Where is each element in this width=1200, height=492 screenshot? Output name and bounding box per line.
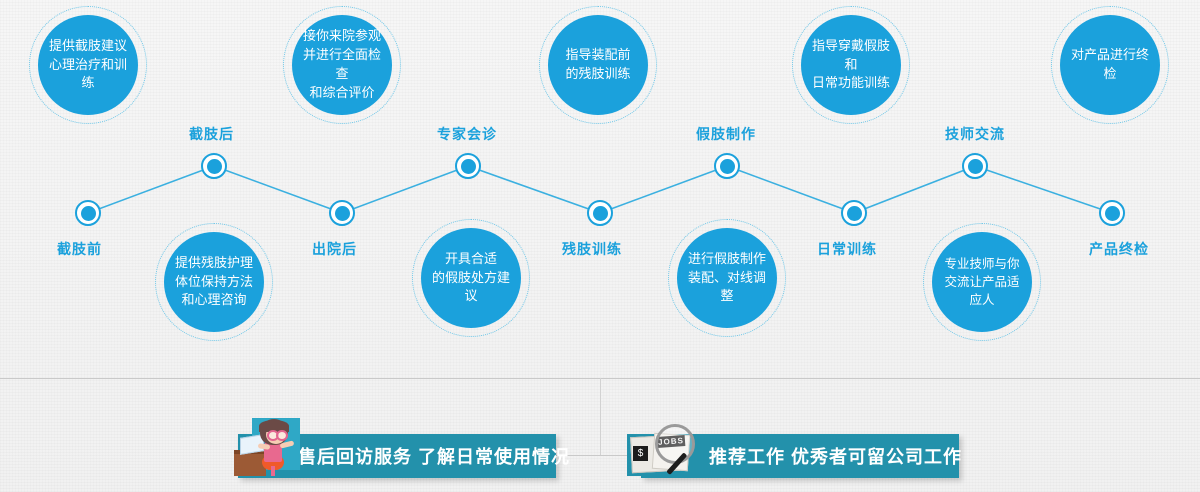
node-chanpinzhongjian[interactable]	[1099, 200, 1125, 226]
bubble-line: 体位保持方法	[175, 274, 253, 289]
magnifier-jobs-newspaper-illustration: JOBS $	[627, 420, 709, 482]
node-jiezhihou[interactable]	[201, 153, 227, 179]
node-label-jiazhizhizuo: 假肢制作	[696, 124, 756, 144]
node-label-zhuanjiahuizhen: 专家会诊	[437, 124, 497, 144]
bubble-bottom-4[interactable]: 专业技师与你 交流让产品适应人	[932, 232, 1032, 332]
bubble-top-3[interactable]: 指导装配前 的残肢训练	[548, 15, 648, 115]
bubble-line: 日常功能训练	[812, 75, 890, 90]
node-label-jiezhihou: 截肢后	[189, 124, 234, 144]
node-label-jishijiaoliu: 技师交流	[945, 124, 1005, 144]
node-label-canzhixunlian: 残肢训练	[562, 239, 622, 259]
node-jishijiaoliu[interactable]	[962, 153, 988, 179]
bubble-line: 提供截肢建议	[49, 38, 127, 53]
banner-after-sales-text: 售后回访服务 了解日常使用情况	[298, 443, 570, 469]
banner-connector-vertical	[600, 378, 601, 456]
node-canzhixunlian[interactable]	[587, 200, 613, 226]
bubble-bottom-2[interactable]: 开具合适 的假肢处方建议	[421, 228, 521, 328]
bubble-top-5[interactable]: 对产品进行终检	[1060, 15, 1160, 115]
bubble-line: 和综合评价	[309, 85, 374, 100]
bubble-line: 指导装配前	[565, 47, 630, 62]
bubble-bottom-1[interactable]: 提供残肢护理 体位保持方法 和心理咨询	[164, 232, 264, 332]
node-zhuanjiahuizhen[interactable]	[455, 153, 481, 179]
banner-job-recommendation-text: 推荐工作 优秀者可留公司工作	[709, 443, 962, 469]
bubble-line: 专业技师与你	[944, 257, 1019, 271]
node-chuyuanhou[interactable]	[329, 200, 355, 226]
bubble-line: 提供残肢护理	[175, 255, 253, 270]
node-jiazhizhizuo[interactable]	[714, 153, 740, 179]
bubble-line: 和心理咨询	[181, 292, 246, 307]
bubble-bottom-3[interactable]: 进行假肢制作 装配、对线调整	[677, 228, 777, 328]
bubble-line: 并进行全面检查	[303, 47, 381, 81]
bubble-top-4[interactable]: 指导穿戴假肢和 日常功能训练	[801, 15, 901, 115]
bubble-line: 心理治疗和训练	[49, 57, 127, 91]
bubble-line: 的假肢处方建议	[432, 270, 510, 304]
bubble-line: 装配、对线调整	[688, 270, 766, 304]
bubble-top-2[interactable]: 接你来院参观 并进行全面检查 和综合评价	[292, 15, 392, 115]
money-glyph: $	[633, 446, 648, 461]
magnifier-lens-icon	[655, 424, 695, 464]
node-label-jiezhiqian: 截肢前	[57, 239, 102, 259]
bubble-line: 交流让产品适应人	[944, 275, 1019, 307]
node-label-richangxunlian: 日常训练	[817, 239, 877, 259]
bubble-line: 指导穿戴假肢和	[812, 38, 890, 72]
node-richangxunlian[interactable]	[841, 200, 867, 226]
bubble-line: 接你来院参观	[303, 28, 381, 43]
bubble-line: 进行假肢制作	[688, 251, 766, 266]
bubble-line: 对产品进行终检	[1071, 47, 1149, 81]
node-label-chuyuanhou: 出院后	[312, 239, 357, 259]
bubble-line: 的残肢训练	[565, 66, 630, 81]
infographic-stage: 提供截肢建议 心理治疗和训练 接你来院参观 并进行全面检查 和综合评价 指导装配…	[0, 0, 1200, 492]
bubble-top-1[interactable]: 提供截肢建议 心理治疗和训练	[38, 15, 138, 115]
node-label-chanpinzhongjian: 产品终检	[1089, 239, 1149, 259]
bubble-line: 开具合适	[445, 251, 497, 266]
woman-at-desk-illustration	[232, 418, 300, 476]
node-jiezhiqian[interactable]	[75, 200, 101, 226]
